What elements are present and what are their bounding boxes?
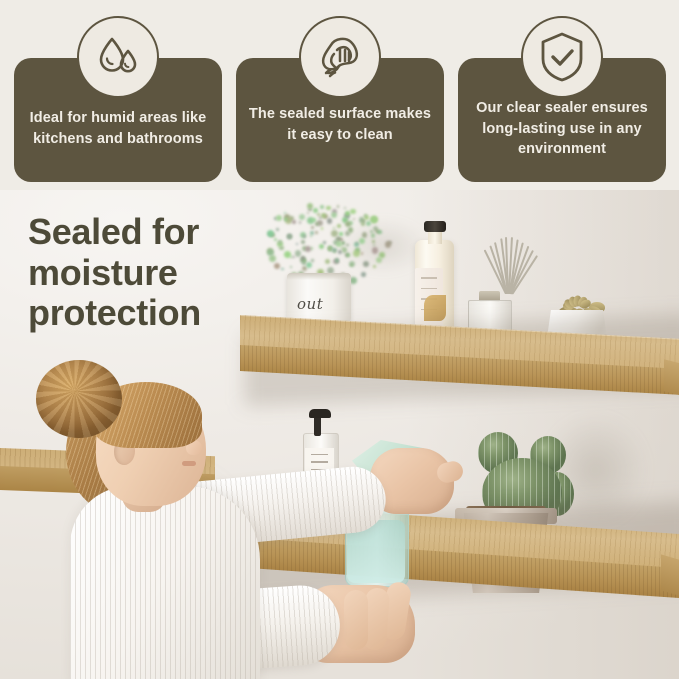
foliage-leaf — [346, 244, 348, 246]
foliage-leaf — [350, 209, 356, 215]
foliage-leaf — [372, 247, 379, 254]
foliage-leaf — [320, 205, 324, 209]
foliage-leaf — [353, 250, 360, 257]
foliage-leaf — [361, 272, 366, 277]
foliage-leaf — [292, 256, 294, 258]
foliage-leaf — [331, 230, 338, 237]
foliage-leaf — [362, 219, 366, 223]
bottle-cap — [424, 221, 446, 232]
floating-shelf-top — [240, 315, 679, 405]
foliage-leaf — [377, 230, 382, 235]
foliage-leaf — [345, 211, 350, 216]
foliage-leaf — [328, 247, 331, 250]
child-lips — [182, 461, 196, 466]
water-droplets-icon — [92, 31, 144, 83]
foliage-leaf — [363, 261, 369, 267]
foliage-leaf — [323, 241, 326, 244]
foliage-leaf — [331, 212, 337, 218]
soap-pump-stem — [314, 416, 321, 436]
hand-wiping-cloth-icon — [313, 31, 367, 83]
feature-icon-badge-1 — [77, 16, 159, 98]
feature-card-row: Ideal for humid areas like kitchens and … — [0, 0, 679, 190]
foliage-leaf — [325, 259, 330, 264]
foliage-leaf — [373, 265, 376, 268]
foliage-leaf — [276, 228, 279, 231]
foliage-leaf — [319, 244, 324, 249]
hair-bun — [36, 360, 122, 438]
foliage-leaf — [312, 218, 316, 222]
shield-check-icon — [537, 30, 587, 84]
feature-card-1-text: Ideal for humid areas like kitchens and … — [14, 108, 222, 149]
foliage-leaf — [350, 277, 356, 283]
foliage-leaf — [344, 207, 346, 209]
foliage-leaf — [305, 246, 311, 252]
foliage-leaf — [276, 215, 282, 221]
feature-card-3-text: Our clear sealer ensures long-lasting us… — [458, 98, 666, 160]
foliage-leaf — [337, 205, 339, 207]
foliage-leaf — [327, 218, 333, 224]
finger-3 — [344, 590, 368, 650]
foliage-leaf — [274, 238, 277, 241]
foliage-leaf — [373, 244, 375, 246]
child-figure — [10, 360, 290, 679]
foliage-leaf — [345, 221, 352, 228]
feature-icon-badge-2 — [299, 16, 381, 98]
planter-script-text: out — [297, 295, 323, 313]
foliage-leaf — [359, 238, 365, 244]
foliage-leaf — [346, 253, 350, 257]
foliage-leaf — [361, 252, 364, 255]
foliage-leaf — [301, 240, 305, 244]
foliage-leaf — [385, 241, 391, 247]
foliage-leaf — [299, 214, 305, 220]
foliage-leaf — [337, 224, 341, 228]
ribbed-texture — [70, 486, 260, 679]
foliage-leaf — [295, 250, 302, 257]
foliage-leaf — [287, 234, 292, 239]
foliage-leaf — [335, 258, 339, 262]
foliage-leaf — [371, 233, 376, 238]
foliage-leaf — [279, 246, 284, 251]
foliage-leaf — [310, 235, 312, 237]
child-torso-shirt — [70, 486, 260, 679]
greenery-foliage — [255, 195, 395, 283]
product-infographic: out — [0, 0, 679, 679]
foliage-leaf — [376, 257, 382, 263]
feature-card-2-text: The sealed surface makes it easy to clea… — [236, 104, 444, 145]
foliage-leaf — [306, 262, 312, 268]
foliage-leaf — [362, 232, 368, 238]
foliage-leaf — [356, 248, 358, 250]
foliage-leaf — [269, 255, 276, 262]
foliage-leaf — [353, 218, 355, 220]
foliage-leaf — [299, 221, 301, 223]
foliage-leaf — [315, 231, 318, 234]
feature-icon-badge-3 — [521, 16, 603, 98]
page-headline: Sealed for moisture protection — [28, 212, 258, 334]
foliage-leaf — [326, 206, 330, 210]
foliage-leaf — [366, 221, 371, 226]
foliage-leaf — [274, 263, 280, 269]
foliage-leaf — [311, 226, 314, 229]
foliage-leaf — [372, 240, 375, 243]
foliage-leaf — [339, 232, 343, 236]
foliage-leaf — [321, 227, 324, 230]
foliage-leaf — [333, 227, 335, 229]
foliage-leaf — [303, 235, 306, 238]
foliage-leaf — [354, 242, 359, 247]
foliage-leaf — [336, 241, 341, 246]
foliage-leaf — [267, 230, 274, 237]
foliage-leaf — [307, 212, 309, 214]
foliage-leaf — [292, 220, 296, 224]
foliage-leaf — [296, 243, 298, 245]
foliage-leaf — [332, 248, 336, 252]
foliage-leaf — [281, 268, 284, 271]
soap-pump-head — [309, 409, 331, 418]
foliage-leaf — [311, 259, 313, 261]
foliage-leaf — [345, 231, 349, 235]
foliage-leaf — [290, 266, 292, 268]
